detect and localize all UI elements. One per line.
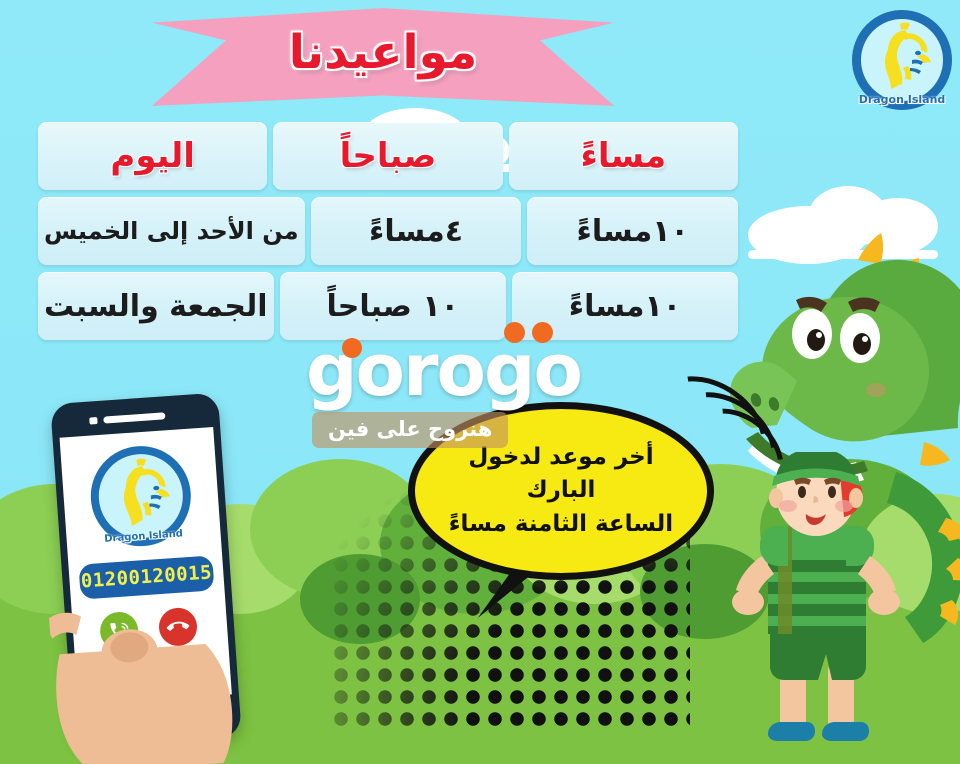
banner: مواعيدنا (152, 6, 614, 110)
brand-logo-phone: Dragon Island (87, 443, 194, 550)
speech-bubble-body: أخر موعد لدخول البارك الساعة الثامنة مسا… (408, 402, 714, 580)
table-row: ١٠مساءً ١٠ صباحاً الجمعة والسبت (38, 272, 738, 340)
phone-hangup-icon (163, 611, 194, 642)
bubble-line-2: الساعة الثامنة مساءً (435, 508, 687, 541)
speech-bubble-text: أخر موعد لدخول البارك الساعة الثامنة مسا… (415, 441, 707, 541)
value-evening-row2: ١٠مساءً (563, 289, 687, 324)
brand-name-label: Dragon Island (852, 93, 952, 106)
phone-call-icon (107, 619, 130, 642)
boy-character (706, 452, 926, 764)
banner-title: مواعيدنا (152, 22, 614, 83)
value-morning-row1: ٤مساءً (363, 214, 469, 249)
header-cell-day: اليوم (38, 122, 267, 190)
brand-logo-top-right: Dragon Island (852, 10, 952, 110)
table-row: ١٠مساءً ٤مساءً من الأحد إلى الخميس (38, 197, 738, 265)
poster-canvas: مواعيدنا Dragon Island (0, 0, 960, 764)
header-label-evening: مساءً (574, 136, 672, 176)
value-morning-row2: ١٠ صباحاً (320, 289, 464, 324)
phone-camera (89, 417, 97, 425)
cell-morning-row2: ١٠ صباحاً (280, 272, 506, 340)
cell-day-row1: من الأحد إلى الخميس (38, 197, 305, 265)
phone-screen: Dragon Island 01200120015 (60, 427, 232, 705)
cell-day-row2: الجمعة والسبت (38, 272, 274, 340)
header-label-day: اليوم (104, 136, 201, 176)
accept-call-button[interactable] (99, 611, 140, 652)
value-day-row2: الجمعة والسبت (38, 289, 274, 324)
schedule-table: مساءً صباحاً اليوم ١٠مساءً ٤مساءً من الأ… (38, 122, 738, 347)
decline-call-button[interactable] (158, 607, 199, 648)
table-header-row: مساءً صباحاً اليوم (38, 122, 738, 190)
boy-illustration (706, 452, 926, 764)
speech-bubble: أخر موعد لدخول البارك الساعة الثامنة مسا… (396, 396, 726, 616)
phone-number-display: 01200120015 (78, 555, 214, 599)
header-label-morning: صباحاً (334, 136, 443, 176)
bubble-line-1: أخر موعد لدخول البارك (435, 441, 687, 508)
header-cell-evening: مساءً (509, 122, 738, 190)
phone-mockup: Dragon Island 01200120015 (50, 393, 242, 749)
header-cell-morning: صباحاً (273, 122, 502, 190)
value-evening-row1: ١٠مساءً (571, 214, 695, 249)
cell-morning-row1: ٤مساءً (311, 197, 522, 265)
value-day-row1: من الأحد إلى الخميس (38, 217, 305, 245)
